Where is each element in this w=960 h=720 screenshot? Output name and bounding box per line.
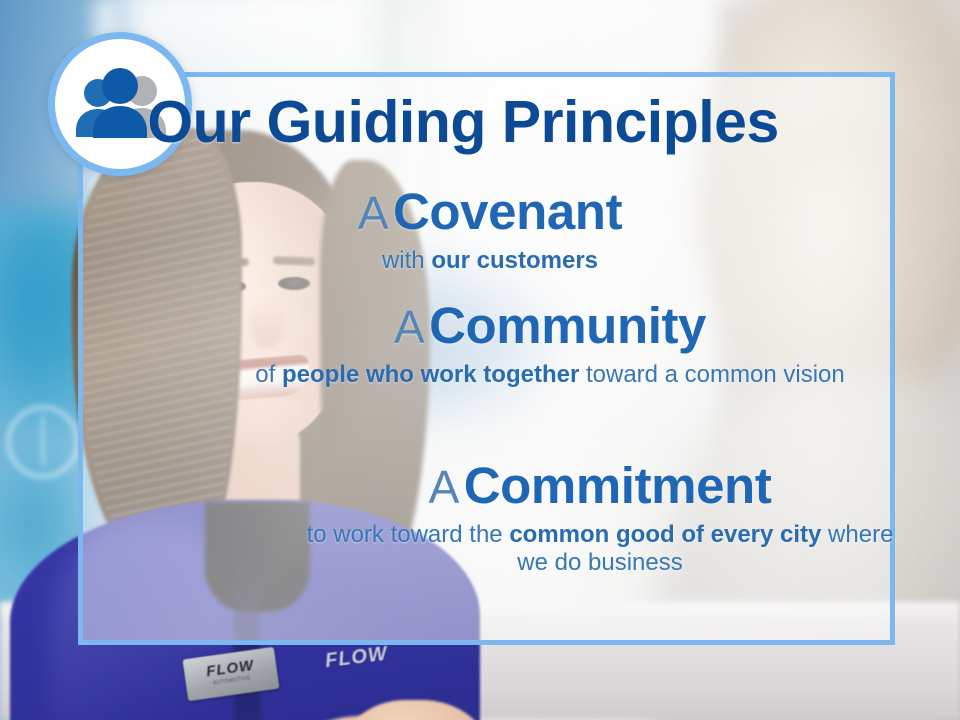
principle-block-commitment: A Commitment to work toward the common g… xyxy=(300,460,900,577)
principle-word-community: Community xyxy=(429,297,706,354)
principle-subtext-commitment: to work toward the common good of every … xyxy=(300,521,900,577)
shirt-placket xyxy=(234,560,260,720)
principle-heading-commitment: A Commitment xyxy=(300,460,900,512)
principle-heading-covenant: A Covenant xyxy=(210,186,770,238)
principle-article-commitment: A xyxy=(429,461,460,513)
principle-block-covenant: A Covenant with our customers xyxy=(210,186,770,275)
eye-right xyxy=(278,277,310,290)
guiding-principles-poster: FLOW AUTOMOTIVE FLOW xyxy=(0,0,960,720)
page-title: Our Guiding Principles xyxy=(0,93,960,152)
principle-heading-community: A Community xyxy=(250,300,850,352)
principle-word-covenant: Covenant xyxy=(393,183,622,240)
principle-subtext-covenant: with our customers xyxy=(210,247,770,275)
principle-block-community: A Community of people who work together … xyxy=(250,300,850,389)
principle-word-commitment: Commitment xyxy=(464,457,772,514)
principle-article-covenant: A xyxy=(358,187,389,239)
principle-article-community: A xyxy=(394,301,425,353)
frame-left-edge-overlay xyxy=(78,300,83,645)
principle-subtext-community: of people who work together toward a com… xyxy=(250,361,850,389)
